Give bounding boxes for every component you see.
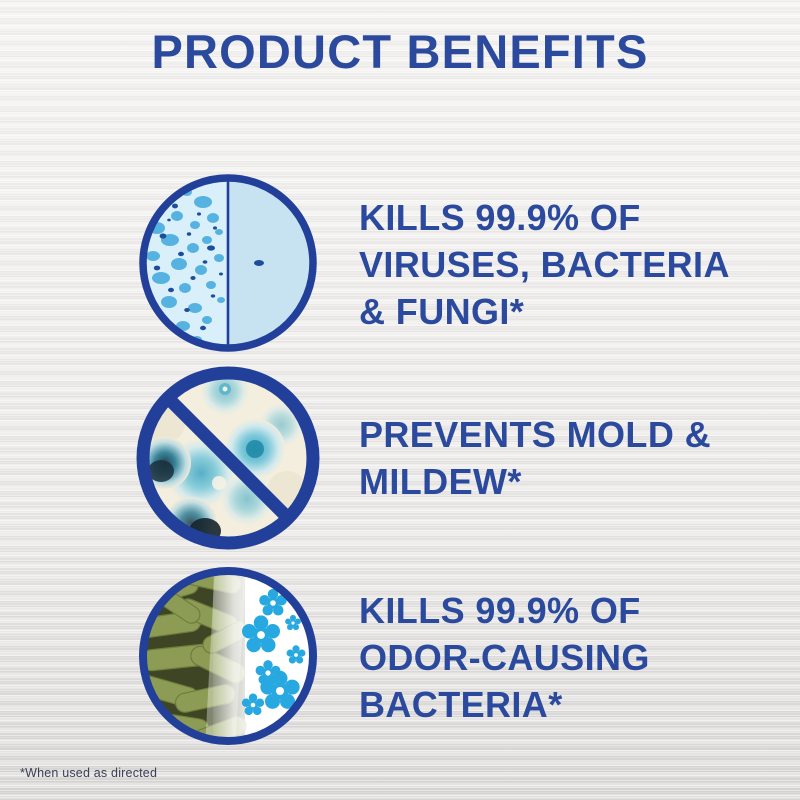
benefit-text-line: KILLS 99.9% OF: [359, 587, 779, 634]
benefit-text: PREVENTS MOLD & MILDEW*: [359, 411, 779, 505]
benefit-text-line: ODOR-CAUSING: [359, 634, 779, 681]
no-mold-mildew-icon: [135, 365, 321, 551]
footnote: *When used as directed: [20, 766, 157, 780]
infographic-page: PRODUCT BENEFITS: [0, 0, 800, 800]
benefit-text-line: & FUNGI*: [359, 288, 779, 335]
benefit-text-line: VIRUSES, BACTERIA: [359, 241, 779, 288]
benefit-text-line: KILLS 99.9% OF: [359, 194, 779, 241]
odor-bacteria-freshness-icon: [135, 563, 321, 749]
benefit-text: KILLS 99.9% OF ODOR-CAUSING BACTERIA*: [359, 587, 779, 728]
benefit-text-line: MILDEW*: [359, 458, 779, 505]
benefit-text-line: BACTERIA*: [359, 681, 779, 728]
benefit-text-line: PREVENTS MOLD &: [359, 411, 779, 458]
page-title: PRODUCT BENEFITS: [0, 24, 800, 79]
benefit-text: KILLS 99.9% OF VIRUSES, BACTERIA & FUNGI…: [359, 194, 779, 335]
petri-dish-before-after-icon: [135, 170, 321, 356]
benefit-row: KILLS 99.9% OF ODOR-CAUSING BACTERIA*: [0, 563, 800, 749]
benefit-row: PREVENTS MOLD & MILDEW*: [0, 365, 800, 551]
benefit-row: KILLS 99.9% OF VIRUSES, BACTERIA & FUNGI…: [0, 170, 800, 356]
